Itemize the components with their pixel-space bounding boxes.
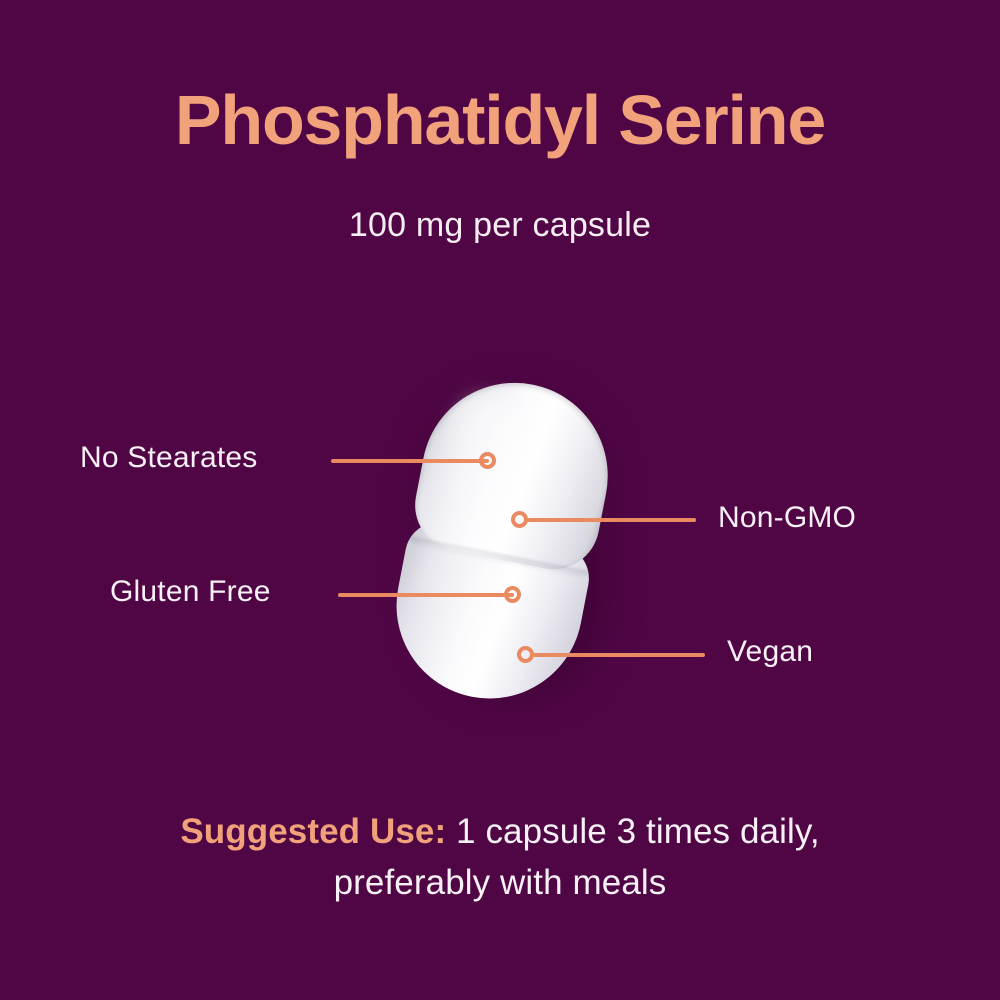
callout-line-vegan [530,653,705,657]
page-title: Phosphatidyl Serine [0,84,1000,158]
product-infographic: Phosphatidyl Serine 100 mg per capsule N… [0,0,1000,1000]
callout-line-non-gmo [524,518,696,522]
callout-line-gluten-free [338,593,514,597]
suggested-use-line-1: 1 capsule 3 times daily, [446,812,819,851]
callout-dot-vegan [517,646,534,663]
capsule-graphic [380,367,637,717]
callout-line-no-stearates [331,459,489,463]
callout-dot-gluten-free [504,586,521,603]
suggested-use-label: Suggested Use: [180,812,446,851]
suggested-use: Suggested Use: 1 capsule 3 times daily, … [0,806,1000,908]
callout-label-gluten-free: Gluten Free [110,575,271,609]
product-dosage: 100 mg per capsule [0,206,1000,245]
callout-label-non-gmo: Non-GMO [718,501,856,535]
callout-label-vegan: Vegan [727,635,813,669]
callout-label-no-stearates: No Stearates [80,441,258,475]
callout-dot-non-gmo [511,511,528,528]
suggested-use-line-2: preferably with meals [334,863,667,902]
callout-dot-no-stearates [479,452,496,469]
